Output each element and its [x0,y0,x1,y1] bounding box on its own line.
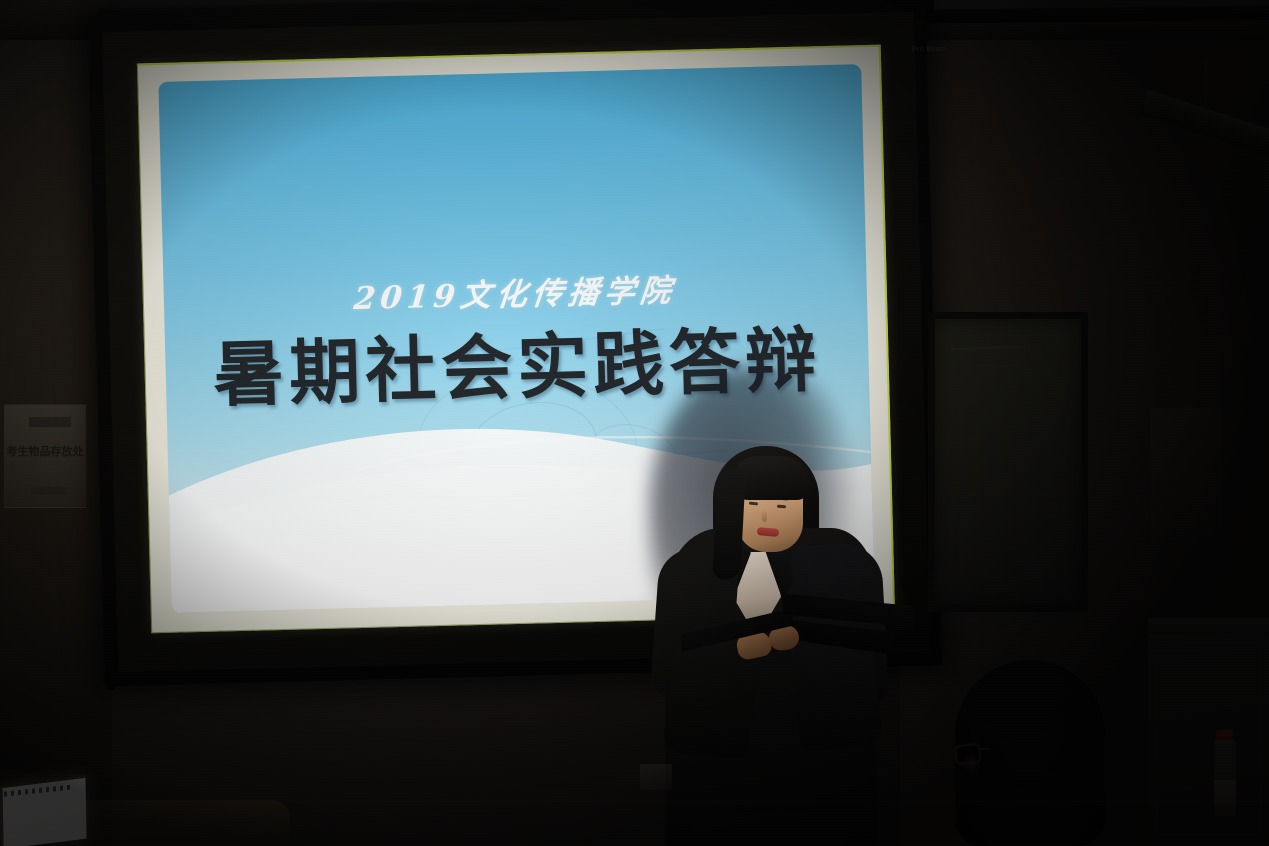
photo-scene: 考生物品存放处 [0,0,1269,846]
projector-screen-brand-label: Pro Beam [912,46,946,54]
presenter-lower-body [693,812,847,846]
glasses-icon [954,743,982,766]
glasses-bridge-icon [980,748,990,750]
presenter-hair-side [712,467,746,580]
cabinet-door [1156,640,1261,836]
wall-sign: 考生物品存放处 [4,404,86,508]
board-writing-mark [951,346,1025,351]
front-desk [60,800,290,846]
board-writing-mark [963,365,1019,366]
sign-footer-bar [31,487,67,495]
sign-label: 考生物品存放处 [5,443,85,459]
presenter-figure [645,440,905,846]
presenter-nose [762,510,767,522]
wall-whiteboard [928,312,1088,612]
wall-power-outlet [640,764,672,790]
cabinet-top-surface [1148,618,1269,634]
laptop [0,778,94,846]
sign-header-bar [29,417,71,427]
wall-poster [1150,408,1222,540]
